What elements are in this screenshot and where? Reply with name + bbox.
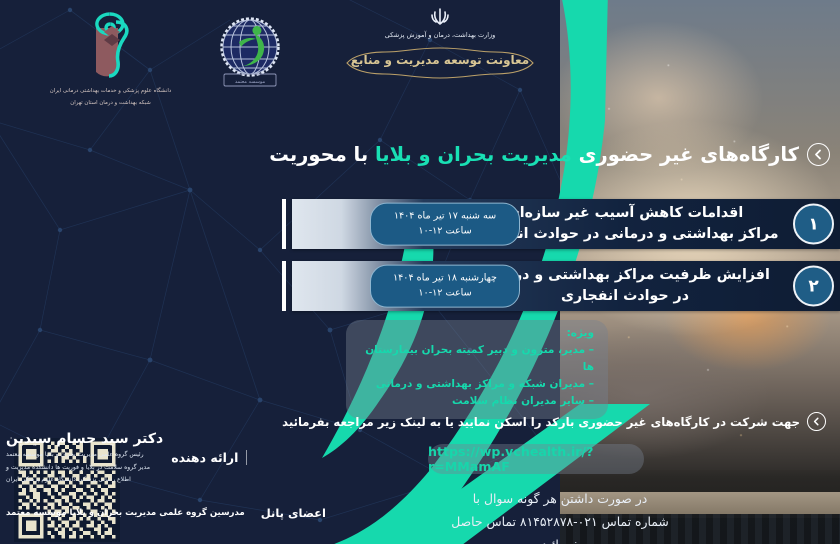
audience-item: – سایر مدیران نظام سلامت [360, 393, 594, 410]
workshop-date: چهارشنبه ۱۸ تیر ماه ۱۴۰۴ [381, 271, 509, 286]
title-part2: با محوریت [269, 143, 375, 166]
workshop-number-badge: ۲ [793, 266, 834, 307]
iums-logo: دانشگاه علوم پزشکی و خدمات بهداشتی درمان… [48, 8, 173, 108]
panel-role-label: اعضای پانل [261, 506, 326, 520]
speaker-credential-line3: اطلاع رسانی پزشکی دانشگاه علوم پزشکی ایر… [6, 475, 163, 486]
motamed-globe-icon: موسسه معتمد [214, 14, 286, 90]
title-part1: کارگاه‌های غیر حضوری [572, 143, 799, 166]
speaker-credential-line1: رئیس گروه علمی مدیریت بحران و بلایا موسس… [6, 450, 163, 461]
workshop-date: سه شنبه ۱۷ تیر ماه ۱۴۰۴ [381, 209, 509, 224]
audience-item: – مدیر، مترون و دبیر کمیته بحران بیمارست… [360, 342, 594, 376]
speaker-credential-line2: مدیر گروه سلامت در بلایا و فوریت ها دانش… [6, 463, 163, 474]
speaker-name: دکتر سید حسام سیدین [6, 430, 163, 448]
workshop-row-1: ۱ اقدامات کاهش آسیب غیر سازه‌ای مراکز به… [292, 196, 840, 252]
registration-url-text: https://wp.vchealth.ir/?r=MMamAF [428, 444, 644, 474]
ministry-logo: وزارت بهداشت، درمان و آموزش پزشکی معاونت… [330, 6, 550, 80]
speaker-info: دکتر سید حسام سیدین رئیس گروه علمی مدیری… [6, 430, 163, 486]
workshop-bar: ۱ اقدامات کاهش آسیب غیر سازه‌ای مراکز به… [292, 199, 840, 249]
workshop-accent-bar [282, 261, 286, 311]
workshop-number-badge: ۱ [793, 204, 834, 245]
title-text: کارگاه‌های غیر حضوری مدیریت بحران و بلای… [269, 143, 799, 166]
target-audience-box: ویژه: – مدیر، مترون و دبیر کمیته بحران ب… [346, 320, 608, 419]
audience-heading: ویژه: [360, 327, 594, 339]
workshop-time: ساعت ۱۲-۱۰ [381, 224, 509, 239]
workshop-bar: ۲ افزایش ظرفیت مراکز بهداشتی و درمانی در… [292, 261, 840, 311]
workshop-date-pill: سه شنبه ۱۷ تیر ماه ۱۴۰۴ ساعت ۱۲-۱۰ [370, 203, 520, 246]
contact-line1: در صورت داشتن هر گونه سوال با [430, 488, 690, 511]
chevron-left-circle-icon [807, 412, 826, 431]
workshop-date-pill: چهارشنبه ۱۸ تیر ماه ۱۴۰۴ ساعت ۱۲-۱۰ [370, 265, 520, 308]
speaker-panel-section: ارائه دهنده دکتر سید حسام سیدین رئیس گرو… [0, 400, 290, 544]
speaker-block: ارائه دهنده دکتر سید حسام سیدین رئیس گرو… [0, 430, 282, 486]
audience-item: – مدیران شبکه و مراکز بهداشتی و درمانی [360, 376, 594, 393]
svg-text:موسسه معتمد: موسسه معتمد [235, 79, 266, 85]
registration-instruction-row: جهت شرکت در کارگاه‌های غیر حضوری بارکد ر… [292, 412, 840, 431]
motamed-logo: موسسه معتمد [190, 14, 310, 94]
deputy-name-text: معاونت توسعه مدیریت و منابع [330, 53, 550, 67]
ministry-name-text: وزارت بهداشت، درمان و آموزش پزشکی [330, 30, 550, 40]
panel-members-block: اعضای پانل مدرسین گروه علمی مدیریت بحران… [0, 505, 282, 520]
speaker-role-label: ارائه دهنده [171, 450, 247, 465]
iums-emblem-icon [80, 8, 142, 80]
contact-info: در صورت داشتن هر گونه سوال با شماره تماس… [430, 488, 690, 544]
event-poster: دانشگاه علوم پزشکی و خدمات بهداشتی درمان… [0, 0, 840, 544]
workshop-row-2: ۲ افزایش ظرفیت مراکز بهداشتی و درمانی در… [292, 258, 840, 314]
panel-members-value: مدرسین گروه علمی مدیریت بحران و بلایا مو… [6, 508, 245, 518]
workshop-time: ساعت ۱۲-۱۰ [381, 286, 509, 301]
poster-title: کارگاه‌های غیر حضوری مدیریت بحران و بلای… [284, 134, 840, 174]
contact-line2: شماره تماس ۰۲۱-۸۱۴۵۲۸۷۸ تماس حاصل بفرمائ… [430, 511, 690, 544]
iums-logo-caption-line2: شبکه بهداشت و درمان استان تهران [48, 99, 173, 108]
iran-emblem-icon [429, 6, 451, 28]
registration-url-pill[interactable]: https://wp.vchealth.ir/?r=MMamAF [428, 444, 644, 474]
registration-instruction-text: جهت شرکت در کارگاه‌های غیر حضوری بارکد ر… [282, 415, 800, 429]
chevron-left-circle-icon [807, 143, 830, 166]
iums-logo-caption-line1: دانشگاه علوم پزشکی و خدمات بهداشتی درمان… [48, 87, 173, 96]
header-logo-strip: دانشگاه علوم پزشکی و خدمات بهداشتی درمان… [0, 0, 560, 125]
workshop-accent-bar [282, 199, 286, 249]
title-highlight: مدیریت بحران و بلایا [375, 143, 572, 166]
